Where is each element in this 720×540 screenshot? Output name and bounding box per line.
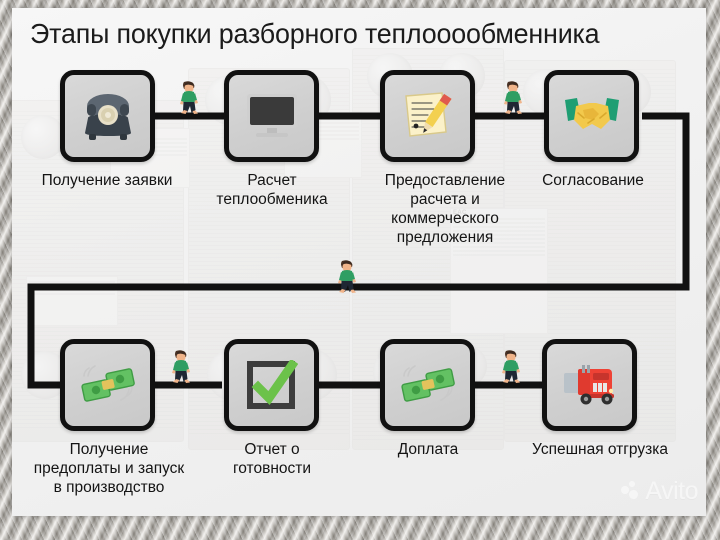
walking-person-icon-4 [170, 349, 192, 385]
avito-watermark: Avito [621, 477, 698, 506]
step-caption-6: Отчет о готовности [198, 440, 346, 478]
money-with-wings-icon [79, 362, 137, 408]
step-box-agreement[interactable] [544, 70, 639, 162]
step-caption-8: Успешная отгрузка [502, 440, 698, 459]
infographic-poster: EAC ЕПС ЕАС Этапы покупки разборного теп… [12, 8, 706, 516]
telephone-icon [81, 91, 135, 141]
step-box-computer[interactable] [224, 70, 319, 162]
walking-person-icon-1 [178, 80, 200, 116]
money-with-wings-icon [399, 362, 457, 408]
avito-wordmark: Avito [645, 477, 698, 506]
step-box-prepayment[interactable] [60, 339, 155, 431]
delivery-truck-icon [562, 363, 618, 407]
walking-person-icon-3 [336, 259, 358, 295]
photo-backdrop: EAC ЕПС ЕАС Этапы покупки разборного теп… [0, 0, 720, 540]
avito-dots-icon [621, 481, 643, 503]
step-box-telephone[interactable] [60, 70, 155, 162]
step-caption-5: Получение предоплаты и запуск в производ… [12, 440, 214, 497]
note-and-pencil-icon [400, 90, 456, 142]
step-caption-3: Предоставление расчета и коммерческого п… [356, 171, 534, 247]
handshake-icon [563, 94, 621, 138]
step-caption-4: Согласование [518, 171, 668, 190]
step-caption-1: Получение заявки [12, 171, 202, 190]
step-box-readiness-report[interactable] [224, 339, 319, 431]
step-box-quote[interactable] [380, 70, 475, 162]
walking-person-icon-2 [502, 80, 524, 116]
check-box-icon [246, 360, 298, 410]
step-caption-7: Доплата [362, 440, 494, 459]
step-box-surcharge[interactable] [380, 339, 475, 431]
step-caption-2: Расчет теплообменика [188, 171, 356, 209]
walking-person-icon-5 [500, 349, 522, 385]
step-box-shipment[interactable] [542, 339, 637, 431]
computer-monitor-icon [244, 92, 300, 140]
